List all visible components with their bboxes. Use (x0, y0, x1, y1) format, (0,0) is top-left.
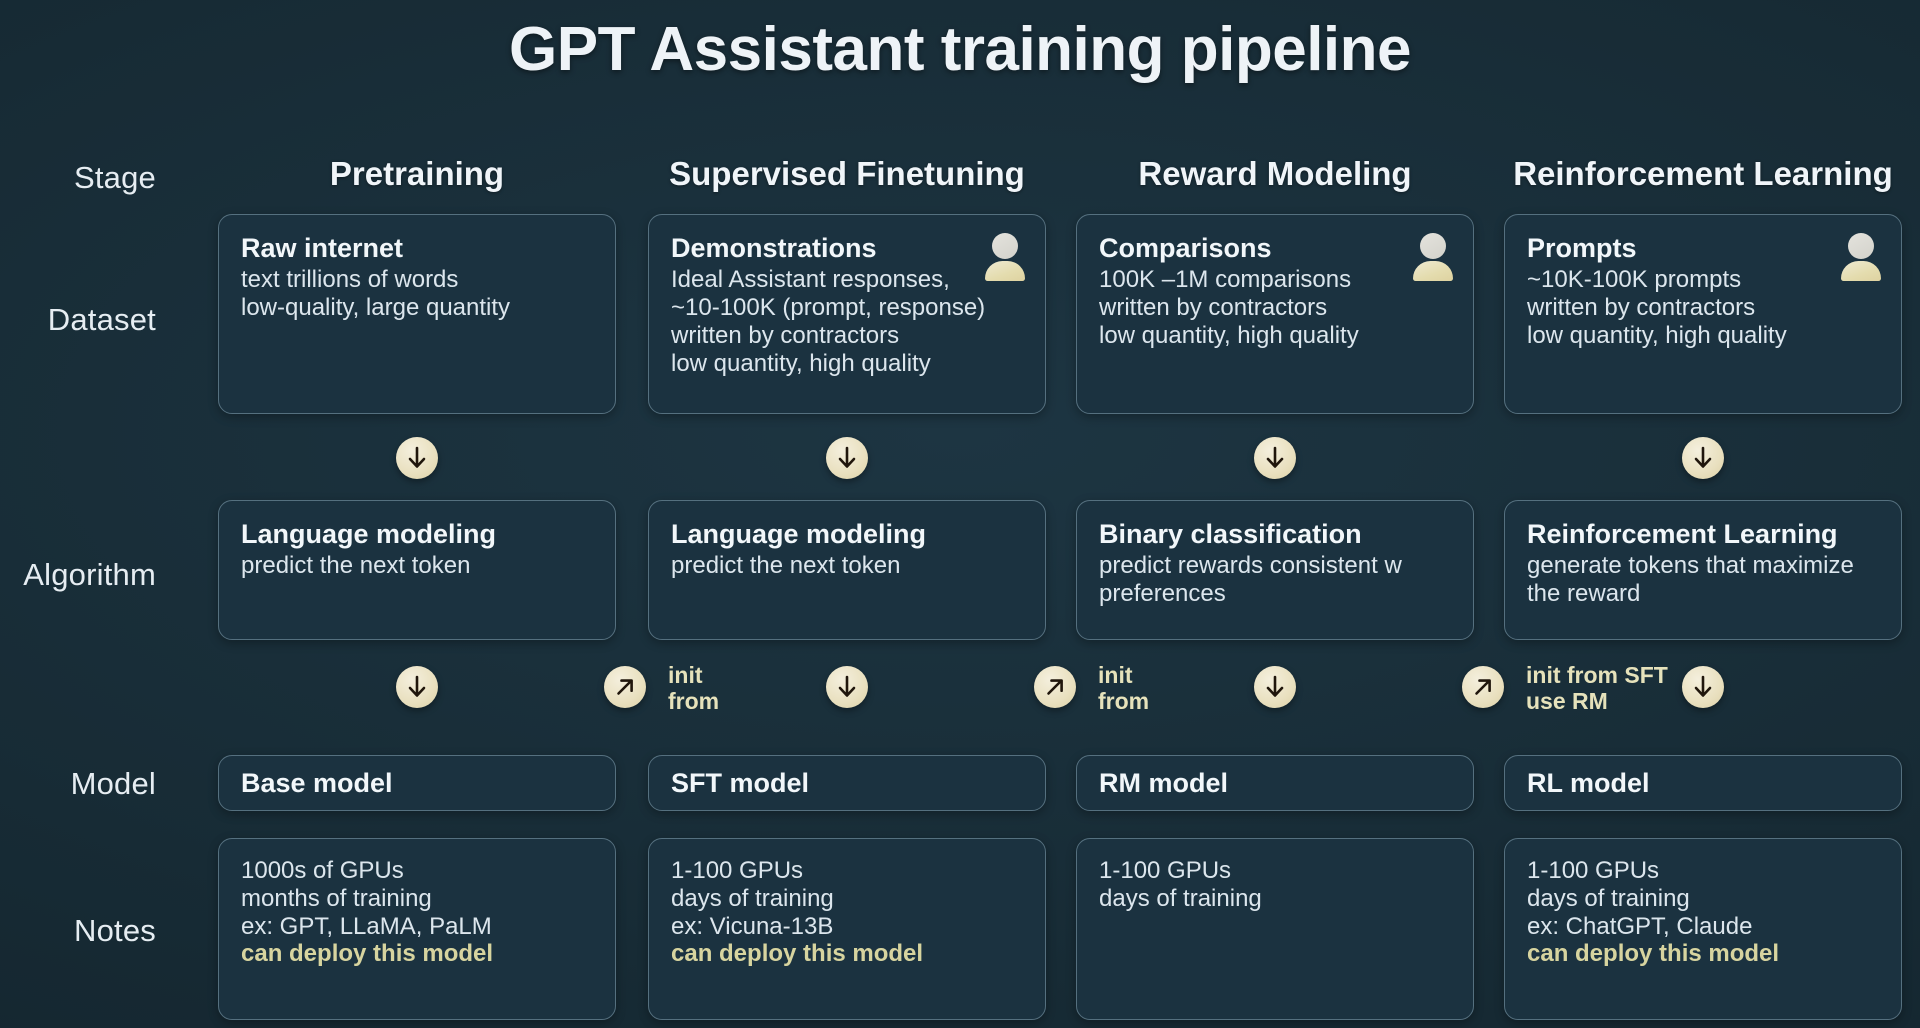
model-label: Base model (241, 768, 393, 798)
arrow-down-icon (826, 666, 868, 708)
model-card-reward-modeling: RM model (1076, 755, 1474, 811)
init-from-caption-sft: init from (668, 663, 719, 715)
dataset-line: low quantity, high quality (1527, 322, 1879, 350)
arrow-down-icon (1682, 437, 1724, 479)
dataset-heading: Prompts (1527, 233, 1879, 263)
algorithm-card-pretraining: Language modeling predict the next token (218, 500, 616, 640)
stage-heading-pretraining: Pretraining (218, 155, 616, 193)
dataset-card-supervised-finetuning: Demonstrations Ideal Assistant responses… (648, 214, 1046, 414)
notes-line: 1-100 GPUs (1527, 857, 1879, 885)
dataset-line: 100K –1M comparisons (1099, 266, 1451, 294)
notes-line: days of training (1527, 885, 1879, 913)
arrow-down-icon (1682, 666, 1724, 708)
notes-line: 1-100 GPUs (671, 857, 1023, 885)
init-from-line: init (1098, 663, 1149, 689)
notes-card-supervised-finetuning: 1-100 GPUs days of training ex: Vicuna-1… (648, 838, 1046, 1020)
init-from-line: init (668, 663, 719, 689)
dataset-heading: Raw internet (241, 233, 593, 263)
dataset-line: written by contractors (1527, 294, 1879, 322)
notes-deploy-line: can deploy this model (671, 940, 1023, 968)
dataset-line: written by contractors (671, 322, 1023, 350)
row-label-model: Model (0, 766, 178, 802)
notes-line: 1000s of GPUs (241, 857, 593, 885)
algorithm-card-reinforcement-learning: Reinforcement Learning generate tokens t… (1504, 500, 1902, 640)
row-label-dataset: Dataset (0, 302, 178, 338)
notes-line: 1-100 GPUs (1099, 857, 1451, 885)
person-icon-head (1848, 233, 1874, 259)
notes-card-pretraining: 1000s of GPUs months of training ex: GPT… (218, 838, 616, 1020)
init-from-line: use RM (1526, 689, 1668, 715)
arrow-down-icon (1254, 437, 1296, 479)
algorithm-heading: Reinforcement Learning (1527, 519, 1879, 549)
model-card-pretraining: Base model (218, 755, 616, 811)
algorithm-heading: Language modeling (241, 519, 593, 549)
dataset-line: low-quality, large quantity (241, 294, 593, 322)
algorithm-line: predict the next token (241, 552, 593, 580)
person-icon (1841, 233, 1881, 277)
model-card-supervised-finetuning: SFT model (648, 755, 1046, 811)
dataset-line: ~10K-100K prompts (1527, 266, 1879, 294)
algorithm-card-supervised-finetuning: Language modeling predict the next token (648, 500, 1046, 640)
algorithm-line: predict the next token (671, 552, 1023, 580)
model-card-reinforcement-learning: RL model (1504, 755, 1902, 811)
arrow-down-icon (1254, 666, 1296, 708)
person-icon-body (1413, 261, 1453, 281)
dataset-card-pretraining: Raw internet text trillions of words low… (218, 214, 616, 414)
init-from-line: from (668, 689, 719, 715)
arrow-down-icon (396, 666, 438, 708)
model-label: SFT model (671, 768, 809, 798)
stage-heading-reward-modeling: Reward Modeling (1076, 155, 1474, 193)
person-icon (1413, 233, 1453, 277)
stage-heading-supervised-finetuning: Supervised Finetuning (648, 155, 1046, 193)
algorithm-heading: Binary classification (1099, 519, 1451, 549)
algorithm-line: preferences (1099, 580, 1451, 608)
algorithm-card-reward-modeling: Binary classification predict rewards co… (1076, 500, 1474, 640)
model-label: RL model (1527, 768, 1650, 798)
dataset-line: written by contractors (1099, 294, 1451, 322)
algorithm-line: generate tokens that maximize (1527, 552, 1879, 580)
init-from-caption-rl: init from SFT use RM (1526, 663, 1668, 715)
algorithm-line: predict rewards consistent w (1099, 552, 1451, 580)
notes-line: months of training (241, 885, 593, 913)
row-label-algorithm: Algorithm (0, 557, 178, 593)
notes-card-reward-modeling: 1-100 GPUs days of training (1076, 838, 1474, 1020)
dataset-line: Ideal Assistant responses, (671, 266, 1023, 294)
dataset-line: text trillions of words (241, 266, 593, 294)
person-icon-head (992, 233, 1018, 259)
row-label-notes: Notes (0, 913, 178, 949)
model-label: RM model (1099, 768, 1228, 798)
notes-deploy-line: can deploy this model (241, 940, 593, 968)
dataset-card-reinforcement-learning: Prompts ~10K-100K prompts written by con… (1504, 214, 1902, 414)
dataset-line: ~10-100K (prompt, response) (671, 294, 1023, 322)
arrow-up-right-icon (604, 666, 646, 708)
page-title: GPT Assistant training pipeline (0, 14, 1920, 85)
row-label-stage: Stage (0, 160, 178, 196)
notes-line: days of training (1099, 885, 1451, 913)
dataset-card-reward-modeling: Comparisons 100K –1M comparisons written… (1076, 214, 1474, 414)
dataset-heading: Comparisons (1099, 233, 1451, 263)
arrow-up-right-icon (1034, 666, 1076, 708)
notes-deploy-line: can deploy this model (1527, 940, 1879, 968)
person-icon-body (985, 261, 1025, 281)
init-from-line: from (1098, 689, 1149, 715)
notes-line: ex: ChatGPT, Claude (1527, 913, 1879, 941)
init-from-caption-rm: init from (1098, 663, 1149, 715)
stage-heading-reinforcement-learning: Reinforcement Learning (1504, 155, 1902, 193)
notes-card-reinforcement-learning: 1-100 GPUs days of training ex: ChatGPT,… (1504, 838, 1902, 1020)
person-icon-body (1841, 261, 1881, 281)
notes-line: ex: Vicuna-13B (671, 913, 1023, 941)
algorithm-heading: Language modeling (671, 519, 1023, 549)
dataset-heading: Demonstrations (671, 233, 1023, 263)
notes-line: ex: GPT, LLaMA, PaLM (241, 913, 593, 941)
person-icon-head (1420, 233, 1446, 259)
dataset-line: low quantity, high quality (1099, 322, 1451, 350)
dataset-line: low quantity, high quality (671, 350, 1023, 378)
notes-line: days of training (671, 885, 1023, 913)
arrow-up-right-icon (1462, 666, 1504, 708)
algorithm-line: the reward (1527, 580, 1879, 608)
slide-root: GPT Assistant training pipeline Stage Da… (0, 0, 1920, 1028)
init-from-line: init from SFT (1526, 663, 1668, 689)
arrow-down-icon (826, 437, 868, 479)
person-icon (985, 233, 1025, 277)
arrow-down-icon (396, 437, 438, 479)
